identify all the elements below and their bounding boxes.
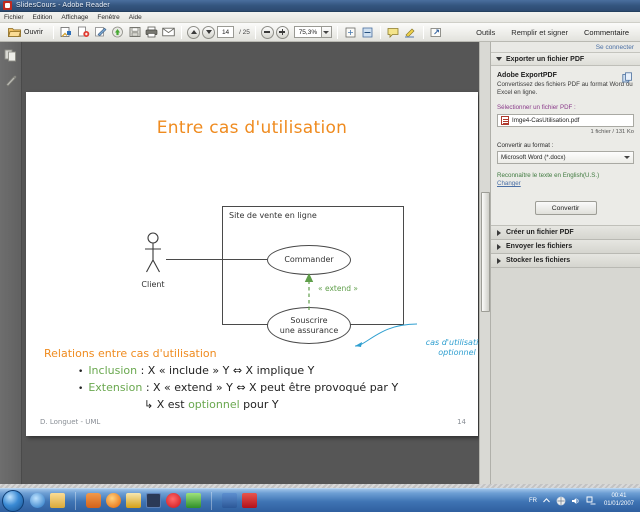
- fit-width-button[interactable]: [360, 25, 375, 40]
- scrollbar-thumb[interactable]: [481, 192, 490, 312]
- previous-page-icon: [191, 30, 197, 34]
- sign-icon: [94, 26, 107, 38]
- read-mode-button[interactable]: [429, 25, 444, 40]
- media-player-icon[interactable]: [86, 493, 101, 508]
- toolbar-separator-6: [423, 26, 424, 39]
- bullet-extension-text: : X « extend » Y ⇔ X peut être provoqué …: [142, 381, 398, 394]
- taskbar-divider-2: [211, 492, 212, 510]
- ocr-change-link[interactable]: Changer: [497, 180, 634, 189]
- save-button[interactable]: [127, 25, 142, 40]
- page-thumbnails-button[interactable]: [3, 47, 19, 63]
- save-icon: [129, 26, 141, 38]
- windows-taskbar: FR 00:41 01/01/2007: [0, 488, 640, 512]
- accordion-label-0: Créer un fichier PDF: [506, 229, 574, 236]
- sub-note-prefix: ↳ X est: [144, 398, 188, 411]
- usecase-souscrire-line1: Souscrire: [290, 316, 327, 325]
- zoom-out-icon: [264, 31, 270, 33]
- slide-body: Relations entre cas d'utilisation • Incl…: [44, 347, 468, 411]
- zoom-level-input[interactable]: 75,3%: [294, 26, 322, 38]
- pdf-page: Entre cas d'utilisation Site de vente en…: [26, 92, 478, 436]
- read-mode-icon: [430, 27, 442, 38]
- print-icon: [145, 26, 158, 38]
- volume-icon[interactable]: [571, 496, 581, 506]
- system-tray: FR 00:41 01/01/2007: [529, 489, 640, 512]
- foxit-reader-icon[interactable]: [126, 493, 141, 508]
- zoom-in-button[interactable]: [276, 26, 289, 39]
- system-boundary-label: Site de vente en ligne: [229, 211, 317, 220]
- tab-commentaire[interactable]: Commentaire: [576, 23, 637, 42]
- clock-time: 00:41: [604, 493, 634, 501]
- comment-bubble-icon: [387, 27, 399, 38]
- bullet-marker: •: [78, 367, 83, 377]
- menu-item-edition[interactable]: Edition: [33, 14, 53, 21]
- pdf-file-icon: [501, 116, 509, 125]
- export-pdf-description: Convertissez des fichiers PDF au format …: [497, 81, 634, 98]
- bullet-inclusion: • Inclusion : X « include » Y ⇔ X impliq…: [78, 364, 468, 377]
- folder-open-icon: [8, 27, 21, 38]
- toolbar-separator-5: [380, 26, 381, 39]
- bullet-inclusion-keyword: Inclusion: [88, 364, 137, 377]
- save-to-acrobat-icon: [60, 26, 73, 38]
- export-pdf-section-header[interactable]: Exporter un fichier PDF: [491, 53, 640, 66]
- sign-button[interactable]: [93, 25, 108, 40]
- internet-explorer-icon[interactable]: [30, 493, 45, 508]
- tools-panel: Se connecter Exporter un fichier PDF Ado…: [490, 42, 640, 488]
- tab-remplir-et-signer[interactable]: Remplir et signer: [503, 23, 576, 42]
- toolbar-separator-4: [337, 26, 338, 39]
- menu-item-fichier[interactable]: Fichier: [4, 14, 24, 21]
- highlight-icon: [404, 27, 416, 38]
- acrobat-reader-icon[interactable]: [242, 493, 257, 508]
- window-titlebar: SlidesCours - Adobe Reader: [0, 0, 640, 12]
- quick-launch: [30, 492, 257, 510]
- open-button[interactable]: Ouvrir: [3, 25, 48, 40]
- fit-page-button[interactable]: [343, 25, 358, 40]
- format-select[interactable]: Microsoft Word (*.docx): [497, 151, 634, 164]
- actor-stick-figure-icon: [140, 232, 166, 278]
- copy-files-icon: [622, 72, 633, 83]
- footer-page-number: 14: [457, 418, 466, 426]
- ocr-language-label: Reconnaître le texte en English(U.S.): [497, 172, 599, 179]
- slide-footer: D. Longuet - UML 14: [40, 418, 466, 426]
- main-toolbar: Ouvrir: [0, 23, 640, 42]
- next-page-button[interactable]: [202, 26, 215, 39]
- page-thumbnails-icon: [4, 48, 18, 62]
- adobe-reader-window: SlidesCours - Adobe Reader Fichier Editi…: [0, 0, 640, 512]
- extend-stereotype-label: « extend »: [318, 284, 358, 293]
- menu-item-aide[interactable]: Aide: [129, 14, 142, 21]
- usecase-commander-label: Commander: [284, 255, 333, 264]
- ocr-info: Reconnaître le texte en English(U.S.) Ch…: [497, 172, 634, 189]
- word-icon[interactable]: [222, 493, 237, 508]
- page-number-input[interactable]: 14: [217, 26, 234, 38]
- highlight-tool-button[interactable]: [3, 72, 19, 88]
- comment-button[interactable]: [386, 25, 401, 40]
- email-button[interactable]: [161, 25, 176, 40]
- print-button[interactable]: [144, 25, 159, 40]
- accordion-creer-un-fichier-pdf[interactable]: Créer un fichier PDF: [491, 226, 640, 240]
- file-explorer-icon[interactable]: [50, 493, 65, 508]
- bullet-inclusion-text: : X « include » Y ⇔ X implique Y: [137, 364, 314, 377]
- menu-item-affichage[interactable]: Affichage: [61, 14, 88, 21]
- firefox-icon[interactable]: [106, 493, 121, 508]
- opera-icon[interactable]: [166, 493, 181, 508]
- accordion-stocker-les-fichiers[interactable]: Stocker les fichiers: [491, 254, 640, 268]
- bullet-extension-keyword: Extension: [88, 381, 142, 394]
- create-pdf-icon: [77, 26, 90, 38]
- upload-cloud-icon: [111, 26, 124, 38]
- page-total-label: / 25: [239, 29, 250, 36]
- actor-label: Client: [130, 280, 176, 289]
- show-hidden-icon[interactable]: [542, 496, 551, 505]
- toolbar-tabs: Outils Remplir et signer Commentaire: [468, 23, 637, 42]
- selected-file-name: Imge4-CasUtilisation.pdf: [512, 117, 579, 124]
- window-title: SlidesCours - Adobe Reader: [16, 2, 110, 9]
- annotation-leader-line: [353, 316, 419, 348]
- photoshop-icon[interactable]: [146, 493, 161, 508]
- document-viewport[interactable]: Entre cas d'utilisation Site de vente en…: [22, 42, 490, 488]
- toolbar-separator-3: [255, 26, 256, 39]
- next-page-icon: [206, 30, 212, 34]
- clock-date: 01/01/2007: [604, 501, 634, 509]
- accordion-label-2: Stocker les fichiers: [506, 257, 570, 264]
- body-heading: Relations entre cas d'utilisation: [44, 347, 468, 360]
- export-pdf-brand: Adobe ExportPDF: [497, 72, 634, 79]
- export-pdf-title: Exporter un fichier PDF: [506, 56, 584, 63]
- tray-language-label[interactable]: FR: [529, 498, 537, 504]
- zoom-dropdown-button[interactable]: [322, 26, 332, 38]
- sign-in-bar: Se connecter: [491, 42, 640, 53]
- menu-bar: Fichier Edition Affichage Fenêtre Aide: [0, 12, 640, 23]
- taskbar-divider: [75, 492, 76, 510]
- usecase-souscrire: Souscrire une assurance: [267, 307, 351, 344]
- accordion-label-1: Envoyer les fichiers: [506, 243, 572, 250]
- file-meta-label: 1 fichier / 131 Ko: [497, 129, 634, 135]
- chevron-right-icon: [497, 258, 501, 264]
- format-select-value: Microsoft Word (*.docx): [501, 154, 566, 161]
- bullet-extension: • Extension : X « extend » Y ⇔ X peut êt…: [78, 381, 468, 394]
- fit-width-icon: [362, 27, 373, 38]
- selected-file-row[interactable]: Imge4-CasUtilisation.pdf: [497, 114, 634, 127]
- open-label: Ouvrir: [24, 29, 43, 36]
- sub-note-suffix: pour Y: [240, 398, 279, 411]
- highlight-tool-icon: [4, 73, 18, 87]
- chevron-down-icon: [624, 156, 630, 159]
- highlight-button[interactable]: [403, 25, 418, 40]
- toolbar-separator: [53, 26, 54, 39]
- clock[interactable]: 00:41 01/01/2007: [601, 493, 637, 508]
- toolbar-separator-2: [181, 26, 182, 39]
- association-line: [166, 259, 267, 260]
- slide-title: Entre cas d'utilisation: [26, 118, 478, 138]
- sub-note: ↳ X est optionnel pour Y: [144, 398, 468, 411]
- export-pdf-body: Adobe ExportPDF Convertissez des fichier…: [491, 66, 640, 226]
- action-center-icon[interactable]: [586, 496, 596, 506]
- menu-item-fenetre[interactable]: Fenêtre: [97, 14, 119, 21]
- start-button[interactable]: [2, 490, 24, 512]
- chevron-right-icon: [497, 244, 501, 250]
- usecase-souscrire-line2: une assurance: [280, 326, 339, 335]
- upload-cloud-button[interactable]: [110, 25, 125, 40]
- document-scrollbar[interactable]: [479, 42, 490, 488]
- sign-in-link[interactable]: Se connecter: [596, 44, 634, 51]
- chevron-right-icon: [497, 230, 501, 236]
- chevron-down-icon: [496, 57, 502, 61]
- select-file-label: Sélectionner un fichier PDF :: [497, 104, 634, 111]
- green-app-icon[interactable]: [186, 493, 201, 508]
- chevron-down-icon: [323, 31, 329, 34]
- previous-page-button[interactable]: [187, 26, 200, 39]
- sub-note-keyword: optionnel: [188, 398, 240, 411]
- acrobat-icon: [3, 1, 12, 10]
- network-icon[interactable]: [556, 496, 566, 506]
- bullet-marker-2: •: [78, 384, 83, 394]
- tab-outils[interactable]: Outils: [468, 23, 503, 42]
- convert-button[interactable]: Convertir: [535, 201, 597, 215]
- save-to-acrobat-button[interactable]: [59, 25, 74, 40]
- email-icon: [162, 27, 175, 37]
- convert-format-label: Convertir au format :: [497, 142, 634, 149]
- fit-page-icon: [345, 27, 356, 38]
- footer-author: D. Longuet - UML: [40, 418, 100, 426]
- accordion-envoyer-les-fichiers[interactable]: Envoyer les fichiers: [491, 240, 640, 254]
- usecase-commander: Commander: [267, 245, 351, 275]
- navigation-rail: [0, 42, 22, 488]
- extend-dependency-arrow: [302, 272, 316, 310]
- zoom-out-button[interactable]: [261, 26, 274, 39]
- create-pdf-button[interactable]: [76, 25, 91, 40]
